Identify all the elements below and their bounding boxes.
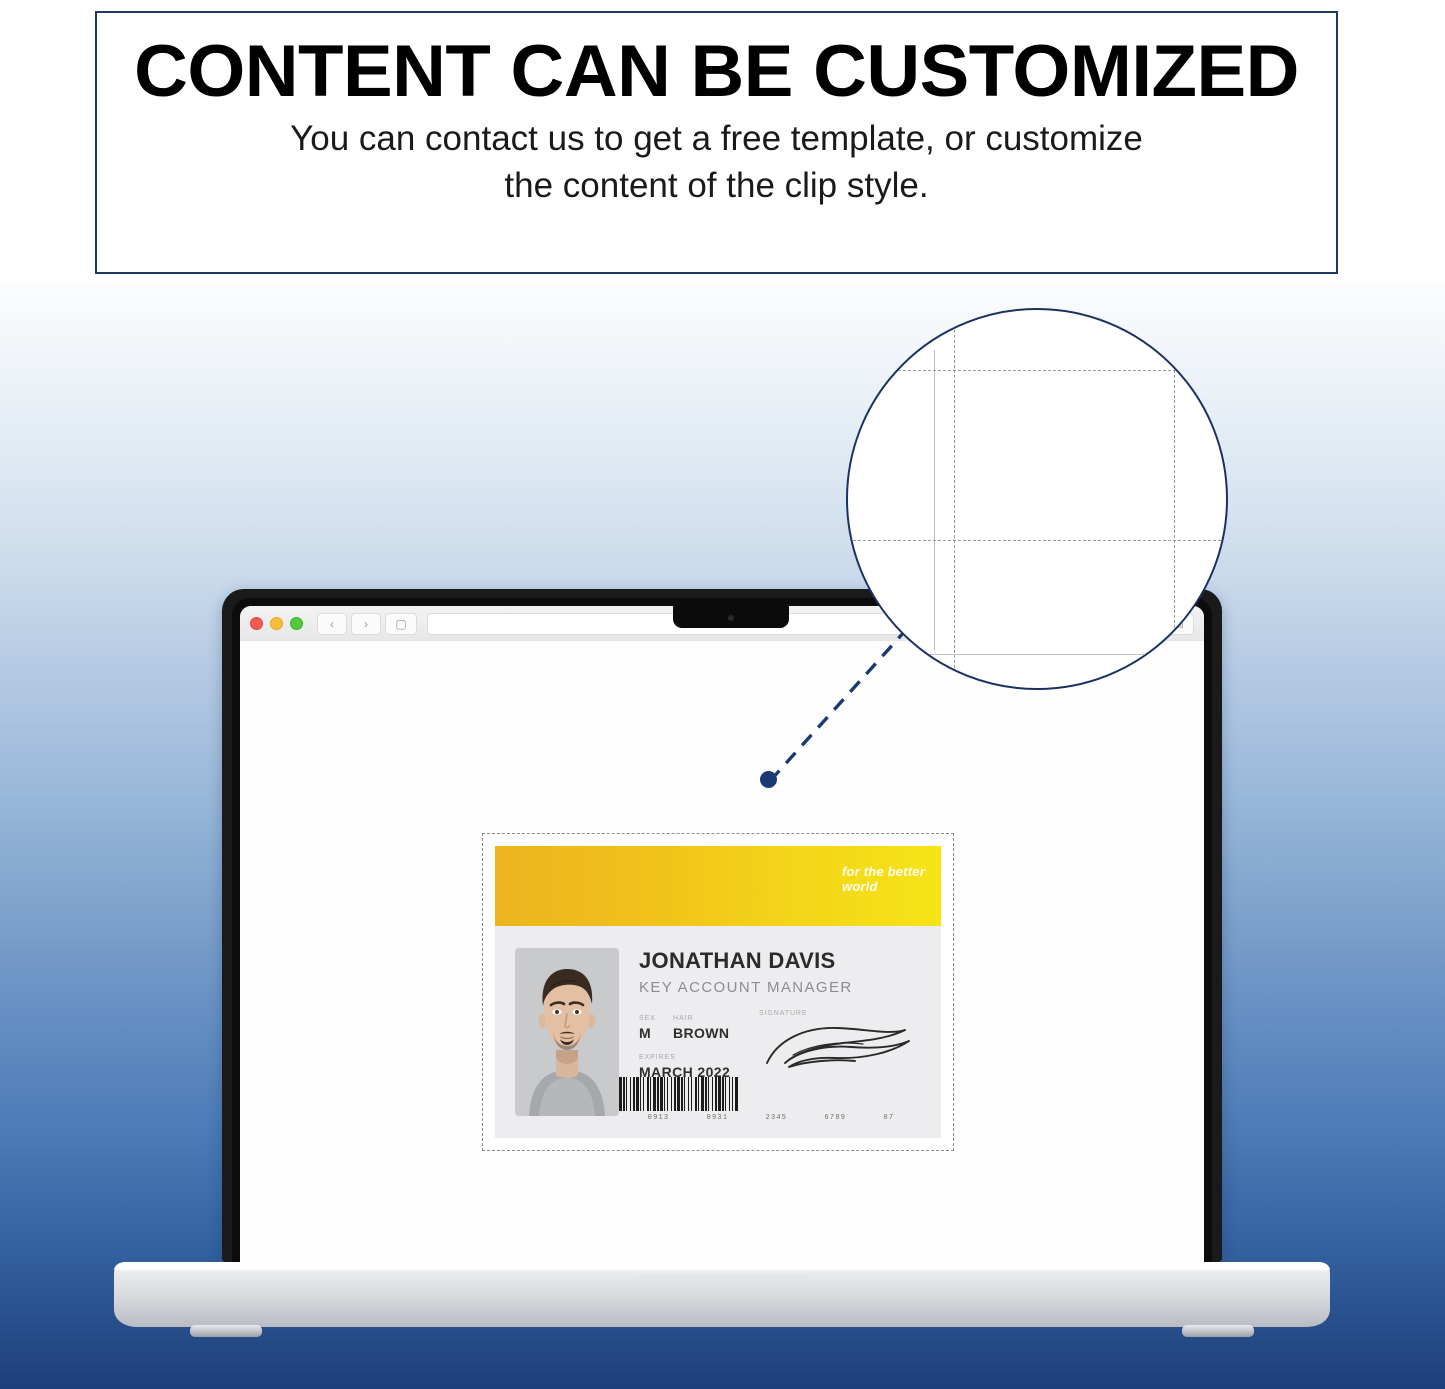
- guide-vertical-dashed-left: [954, 310, 955, 688]
- callout-leader-line: [0, 0, 1445, 1389]
- guide-horizontal-dashed-bottom: [848, 540, 1226, 541]
- guide-vertical-dashed-right: [1174, 310, 1175, 688]
- guide-vertical-solid: [934, 350, 935, 650]
- guide-horizontal-dashed-top: [848, 370, 1226, 371]
- page-stage: CONTENT CAN BE CUSTOMIZED You can contac…: [0, 0, 1445, 1389]
- camera-icon: [728, 615, 734, 621]
- callout-anchor-dot: [760, 771, 777, 788]
- magnifier-guides: [848, 310, 1226, 688]
- magnifier-circle: [846, 308, 1228, 690]
- guide-horizontal-solid: [848, 654, 1226, 655]
- screen-notch: [673, 606, 789, 628]
